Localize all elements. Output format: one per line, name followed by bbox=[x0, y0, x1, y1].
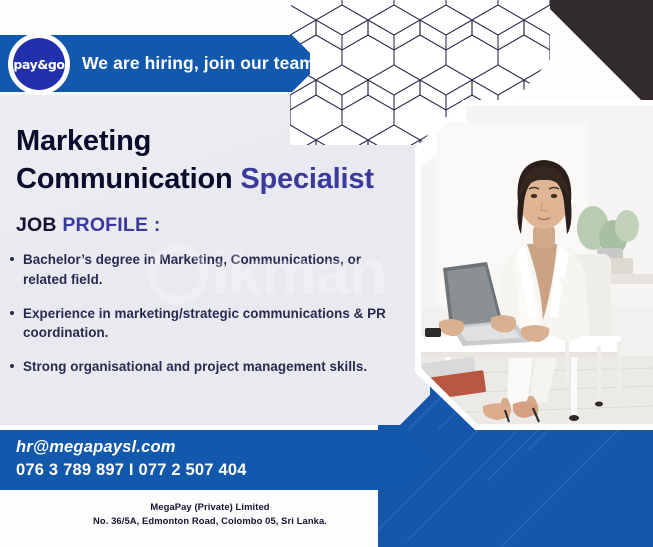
job-advertisement-poster: pay&go We are hiring, join our team! Mar… bbox=[0, 0, 653, 547]
list-item: Strong organisational and project manage… bbox=[8, 357, 408, 377]
requirement-text: Strong organisational and project manage… bbox=[23, 357, 367, 377]
bullet-dot-icon bbox=[10, 311, 14, 315]
title-line-2: Communication bbox=[16, 163, 240, 195]
requirement-text: Bachelor’s degree in Marketing, Communic… bbox=[23, 250, 408, 290]
section-heading-job-profile: JOB PROFILE : bbox=[16, 214, 161, 237]
page-title: Marketing Communication Specialist bbox=[16, 122, 416, 199]
company-address: No. 36/5A, Edmonton Road, Colombo 05, Sr… bbox=[0, 514, 420, 528]
company-logo: pay&go bbox=[8, 33, 70, 95]
office-photo-illustration bbox=[421, 106, 653, 424]
logo-disc: pay&go bbox=[13, 38, 65, 90]
hiring-banner-text: We are hiring, join our team! bbox=[82, 35, 321, 92]
photo-image bbox=[421, 106, 653, 424]
requirement-text: Experience in marketing/strategic commun… bbox=[23, 304, 408, 344]
list-item: Bachelor’s degree in Marketing, Communic… bbox=[8, 250, 408, 290]
contact-email[interactable]: hr@megapaysl.com bbox=[16, 438, 176, 457]
bullet-dot-icon bbox=[10, 257, 14, 261]
title-line-1: Marketing bbox=[16, 125, 151, 157]
logo-text: pay&go bbox=[13, 57, 64, 72]
title-accent: Specialist bbox=[240, 163, 373, 195]
job-label: JOB bbox=[16, 214, 62, 236]
footer-address: MegaPay (Private) Limited No. 36/5A, Edm… bbox=[0, 500, 420, 528]
contact-phone-numbers[interactable]: 076 3 789 897 I 077 2 507 404 bbox=[16, 461, 247, 480]
bullet-dot-icon bbox=[10, 364, 14, 368]
requirements-list: Bachelor’s degree in Marketing, Communic… bbox=[8, 250, 408, 391]
profile-label: PROFILE : bbox=[62, 214, 160, 236]
company-name: MegaPay (Private) Limited bbox=[0, 500, 420, 514]
list-item: Experience in marketing/strategic commun… bbox=[8, 304, 408, 344]
